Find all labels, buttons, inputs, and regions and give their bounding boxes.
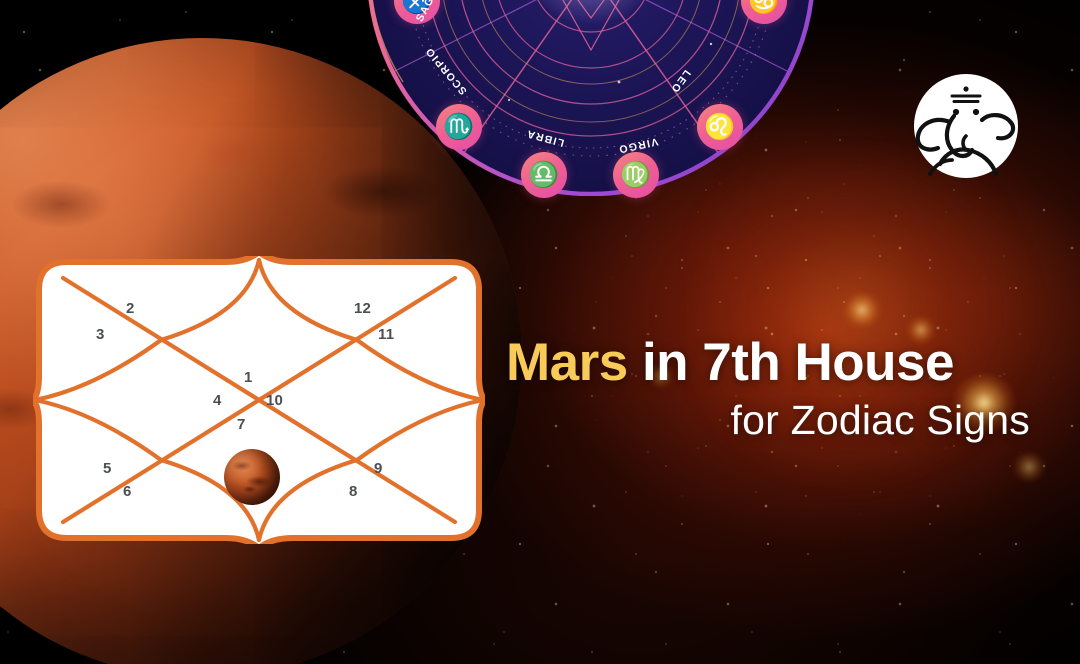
- ganesha-logo[interactable]: [910, 70, 1022, 182]
- zodiac-badge-virgo[interactable]: ♍: [613, 152, 659, 198]
- house-number-5: 5: [103, 461, 112, 476]
- house-number-8: 8: [349, 484, 358, 499]
- house-number-1: 1: [244, 370, 253, 385]
- house-number-7: 7: [237, 417, 246, 432]
- title-accent-word: Mars: [506, 333, 628, 392]
- zodiac-wheel: ♐ SAGITTARIUS ♏ SCORPIO ♎ LIBRA ♍ VIRGO …: [363, 0, 819, 196]
- star-cluster-glow: [842, 292, 882, 328]
- ganesha-logo-icon: [910, 70, 1022, 182]
- scorpio-icon: ♏: [443, 115, 474, 140]
- title-block: Mars in 7th House for Zodiac Signs: [506, 336, 1046, 444]
- house-number-12: 12: [354, 301, 371, 316]
- leo-icon: ♌: [704, 115, 735, 140]
- zodiac-badge-libra[interactable]: ♎: [521, 152, 567, 198]
- house-number-9: 9: [374, 461, 383, 476]
- title-rest: in 7th House: [628, 333, 954, 392]
- virgo-icon: ♍: [620, 163, 651, 188]
- house-number-11: 11: [378, 327, 394, 342]
- libra-icon: ♎: [528, 163, 559, 188]
- house-number-6: 6: [123, 484, 132, 499]
- house-number-4: 4: [213, 393, 222, 408]
- banner: ♐ SAGITTARIUS ♏ SCORPIO ♎ LIBRA ♍ VIRGO …: [0, 0, 1080, 664]
- house-number-3: 3: [96, 327, 105, 342]
- house-number-2: 2: [126, 301, 135, 316]
- page-title: Mars in 7th House: [506, 336, 1046, 390]
- zodiac-badge-scorpio[interactable]: ♏: [436, 104, 482, 150]
- zodiac-wheel-graphic: [363, 0, 819, 196]
- mars-planet-marker[interactable]: [224, 449, 280, 505]
- star-cluster-glow: [1012, 452, 1046, 482]
- zodiac-badge-leo[interactable]: ♌: [697, 104, 743, 150]
- page-subtitle: for Zodiac Signs: [506, 397, 1046, 444]
- cancer-icon: ♋: [748, 0, 779, 14]
- house-number-10: 10: [266, 393, 283, 408]
